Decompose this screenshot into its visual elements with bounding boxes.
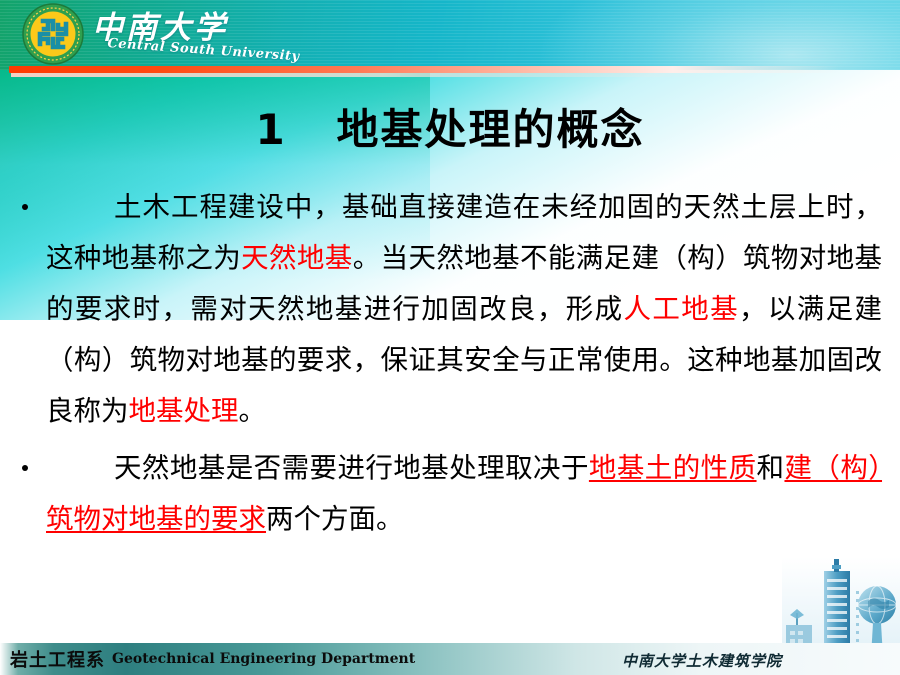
text-run: 两个方面。 <box>266 503 404 535</box>
central-south-university-emblem-icon <box>22 3 84 65</box>
highlighted-term: 地基土的性质 <box>589 452 757 484</box>
accent-rule <box>9 66 839 73</box>
paragraph-text: 土木工程建设中，基础直接建造在未经加固的天然土层上时， 这种地基称之为天然地基。… <box>46 182 882 437</box>
bullet-icon <box>22 465 28 471</box>
footer-department: 岩土工程系 Geotechnical Engineering Departmen… <box>10 643 415 675</box>
footer-department-en: Geotechnical Engineering Department <box>112 651 415 667</box>
text-run: 和 <box>757 452 785 484</box>
footer-department-cn: 岩土工程系 <box>10 646 105 672</box>
paragraph-text: 天然地基是否需要进行地基处理取决于地基土的性质和建（构）筑物对地基的要求两个方面… <box>46 443 882 545</box>
slide-body: 土木工程建设中，基础直接建造在未经加固的天然土层上时， 这种地基称之为天然地基。… <box>0 182 900 551</box>
body-paragraph: 土木工程建设中，基础直接建造在未经加固的天然土层上时， 这种地基称之为天然地基。… <box>0 182 900 437</box>
accent-rule-shadow <box>11 73 837 77</box>
highlighted-term: 人工地基 <box>624 293 740 325</box>
slide-title: 1 地基处理的概念 <box>0 96 900 157</box>
highlighted-term: 天然地基 <box>241 242 353 274</box>
footer-school-name: 中南大学土木建筑学院 <box>622 650 782 671</box>
banner-glow <box>540 0 900 70</box>
header-banner: 中南大学 Central South University <box>0 0 900 70</box>
highlighted-term: 地基处理 <box>129 395 239 427</box>
body-paragraph: 天然地基是否需要进行地基处理取决于地基土的性质和建（构）筑物对地基的要求两个方面… <box>0 443 900 545</box>
bullet-icon <box>22 204 28 210</box>
text-run: 。 <box>239 395 267 427</box>
slide-canvas: 中南大学 Central South University 1 地基处理的概念 … <box>0 0 900 675</box>
text-run: 天然地基是否需要进行地基处理取决于 <box>114 452 589 484</box>
